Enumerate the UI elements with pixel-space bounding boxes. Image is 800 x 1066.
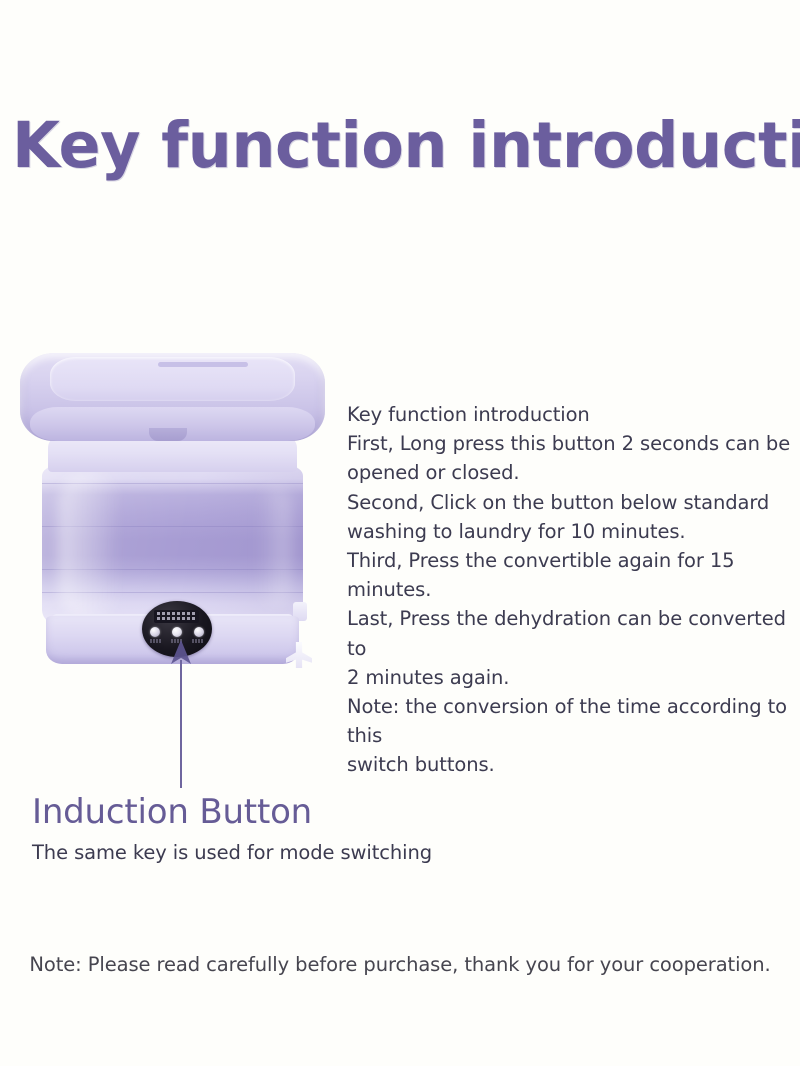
intro-line: Third, Press the convertible again for 1…	[347, 546, 799, 604]
control-panel-buttons	[150, 627, 204, 637]
key-function-description: Key function introduction First, Long pr…	[347, 400, 799, 780]
lid-slot	[158, 362, 248, 367]
display-text-row	[157, 617, 196, 620]
intro-line: switch buttons.	[347, 750, 799, 779]
intro-line: Second, Click on the button below standa…	[347, 488, 799, 517]
callout-title-induction-button: Induction Button	[32, 791, 312, 833]
intro-line: First, Long press this button 2 seconds …	[347, 429, 799, 458]
control-button-label	[150, 639, 162, 643]
lid-latch-tab	[149, 428, 187, 441]
display-text-row	[157, 612, 196, 615]
control-button-label	[192, 639, 204, 643]
body-highlight	[58, 472, 122, 620]
footer-purchase-note: Note: Please read carefully before purch…	[0, 951, 800, 979]
intro-line: Last, Press the dehydration can be conve…	[347, 604, 799, 662]
product-image-foldable-washing-machine	[14, 352, 334, 672]
control-panel[interactable]	[142, 601, 212, 657]
body-highlight-right	[257, 486, 291, 606]
control-button-left[interactable]	[150, 627, 160, 637]
callout-subtitle: The same key is used for mode switching	[32, 840, 432, 866]
control-panel-display	[154, 610, 199, 623]
intro-line: washing to laundry for 10 minutes.	[347, 517, 799, 546]
washing-machine-collar	[48, 438, 297, 472]
intro-line: Key function introduction	[347, 400, 799, 429]
intro-line: opened or closed.	[347, 458, 799, 487]
intro-line: 2 minutes again.	[347, 663, 799, 692]
control-button-right[interactable]	[194, 627, 204, 637]
page-title: Key function introduction	[12, 108, 788, 184]
induction-button[interactable]	[172, 627, 182, 637]
callout-pointer-line	[180, 660, 182, 788]
control-panel-labels	[150, 639, 204, 643]
intro-line: Note: the conversion of the time accordi…	[347, 692, 799, 750]
lid-inner-panel	[50, 357, 295, 401]
